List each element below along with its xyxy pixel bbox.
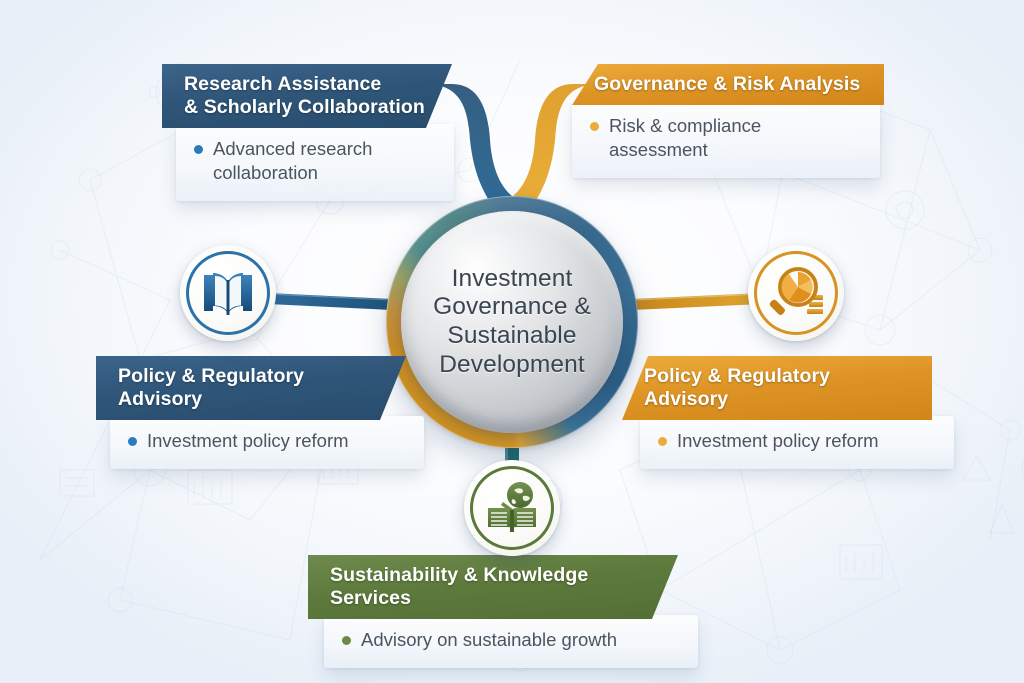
card-body: Risk & compliance assessment: [572, 101, 880, 178]
bullet-item: Advanced research collaboration: [194, 137, 436, 185]
infographic-canvas: Investment Governance & Sustainable Deve…: [0, 0, 1024, 683]
bullet-item: Risk & compliance assessment: [590, 114, 862, 162]
card-governance-risk-analysis[interactable]: Governance & Risk Analysis Risk & compli…: [572, 64, 884, 178]
card-body: Investment policy reform: [640, 416, 954, 469]
hub-inner-disc: Investment Governance & Sustainable Deve…: [401, 211, 623, 433]
icon-bubble-left[interactable]: [180, 245, 276, 341]
card-body: Advanced research collaboration: [176, 124, 454, 201]
card-title: Policy & Regulatory Advisory: [644, 365, 910, 411]
bullet-label: Investment policy reform: [147, 429, 349, 453]
card-sustainability-knowledge-services[interactable]: Sustainability & Knowledge Services Advi…: [308, 555, 678, 668]
icon-bubble-right[interactable]: [748, 245, 844, 341]
bullet-item: Investment policy reform: [128, 429, 406, 453]
bullet-label: Risk & compliance assessment: [609, 114, 862, 162]
magnifier-pie-chart-icon: [767, 265, 825, 321]
connector-left: [268, 293, 392, 310]
bullet-dot: [194, 145, 203, 154]
card-title-ribbon: Governance & Risk Analysis: [572, 64, 884, 105]
bullet-item: Advisory on sustainable growth: [342, 628, 680, 652]
card-title-ribbon: Sustainability & Knowledge Services: [308, 555, 678, 619]
central-hub: Investment Governance & Sustainable Deve…: [386, 196, 638, 448]
bullet-dot: [342, 636, 351, 645]
card-policy-regulatory-advisory-right[interactable]: Policy & Regulatory Advisory Investment …: [622, 356, 932, 469]
card-title-ribbon: Research Assistance & Scholarly Collabor…: [162, 64, 452, 128]
card-title-ribbon: Policy & Regulatory Advisory: [622, 356, 932, 420]
card-title-line2: & Scholarly Collaboration: [184, 96, 425, 118]
bullet-label: Investment policy reform: [677, 429, 879, 453]
hub-title: Investment Governance & Sustainable Deve…: [401, 265, 623, 380]
bullet-dot: [128, 437, 137, 446]
bullet-label: Advisory on sustainable growth: [361, 628, 617, 652]
card-body: Advisory on sustainable growth: [324, 615, 698, 668]
connector-right: [632, 293, 762, 310]
card-title: Policy & Regulatory Advisory: [118, 365, 384, 411]
bullet-dot: [590, 122, 599, 131]
card-policy-regulatory-advisory-left[interactable]: Policy & Regulatory Advisory Investment …: [96, 356, 406, 469]
icon-bubble-bottom[interactable]: [464, 460, 560, 556]
book-globe-icon: [483, 480, 541, 536]
card-title: Sustainability & Knowledge Services: [330, 564, 656, 610]
card-title-line1: Research Assistance: [184, 73, 381, 95]
card-title-ribbon: Policy & Regulatory Advisory: [96, 356, 406, 420]
card-body: Investment policy reform: [110, 416, 424, 469]
bullet-dot: [658, 437, 667, 446]
card-research-assistance[interactable]: Research Assistance & Scholarly Collabor…: [162, 64, 432, 201]
bullet-item: Investment policy reform: [658, 429, 936, 453]
card-title: Governance & Risk Analysis: [594, 73, 860, 96]
bullet-label: Advanced research collaboration: [213, 137, 436, 185]
open-book-icon: [200, 267, 256, 319]
